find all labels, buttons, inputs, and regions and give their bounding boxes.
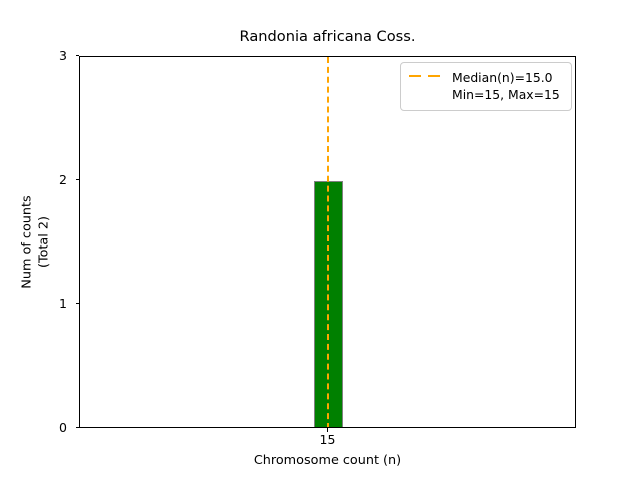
plot-area bbox=[79, 56, 576, 428]
y-tick-label-2: 2 bbox=[59, 174, 67, 186]
x-axis-label: Chromosome count (n) bbox=[79, 453, 576, 468]
y-axis-label: Num of counts bbox=[20, 195, 35, 288]
x-tick-label-0: 15 bbox=[320, 433, 336, 447]
chart-figure: Randonia africana Coss. 0 1 2 3 15 Chrom… bbox=[0, 0, 640, 480]
y-axis-label-total: (Total 2) bbox=[37, 216, 52, 268]
y-tick-label-3: 3 bbox=[59, 50, 67, 62]
legend-item-minmax: Min=15, Max=15 bbox=[452, 86, 560, 103]
median-line bbox=[327, 57, 329, 428]
page-title: Randonia africana Coss. bbox=[79, 28, 576, 45]
legend-median-dashed-line-icon bbox=[409, 69, 443, 84]
legend-item-median: Median(n)=15.0 bbox=[452, 69, 560, 86]
y-tick-label-1: 1 bbox=[59, 298, 67, 310]
legend-text-block: Median(n)=15.0 Min=15, Max=15 bbox=[452, 69, 560, 103]
legend: Median(n)=15.0 Min=15, Max=15 bbox=[400, 62, 572, 111]
y-tick-label-0: 0 bbox=[59, 422, 67, 434]
x-tick-mark-0 bbox=[327, 428, 328, 432]
